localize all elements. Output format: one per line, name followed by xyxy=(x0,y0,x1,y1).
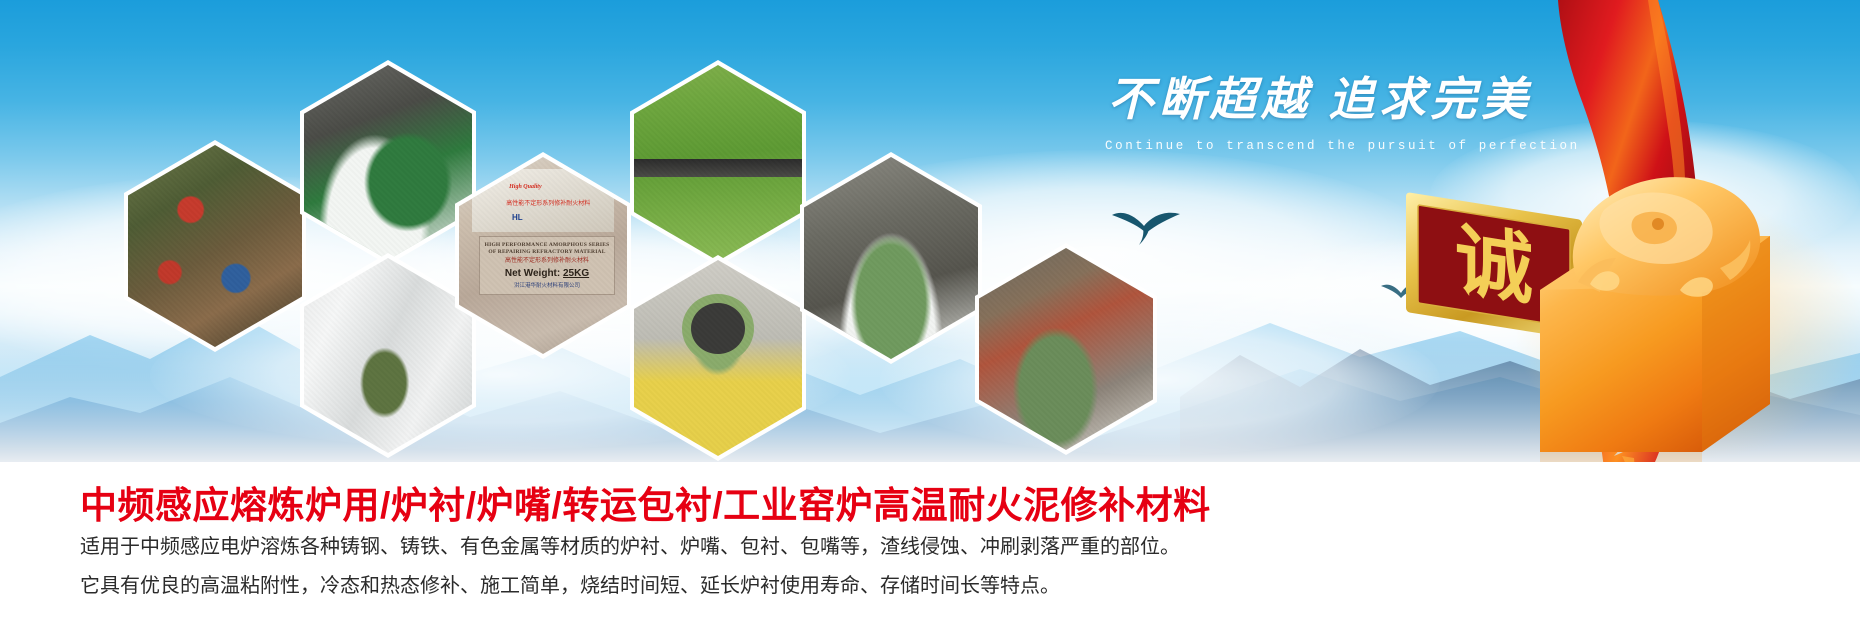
hexagon-photo-nozzle xyxy=(630,255,806,461)
promotional-banner: High Quality 高性能不定形系列修补耐火材料 HL HIGH PERF… xyxy=(0,0,1860,640)
description-line-2: 它具有优良的高温粘附性，冷态和热态修补、施工简单，烧结时间短、延长炉衬使用寿命、… xyxy=(80,569,1060,598)
hexagon-photo-furnace xyxy=(800,152,982,364)
description-line-1: 适用于中频感应电炉溶炼各种铸钢、铸铁、有色金属等材质的炉衬、炉嘴、包衬、包嘴等，… xyxy=(80,530,1180,559)
hexagon-photo-green-lining xyxy=(630,60,806,266)
page-title: 中频感应熔炼炉用/炉衬/炉嘴/转运包衬/工业窑炉高温耐火泥修补材料 xyxy=(80,475,1211,529)
plaque-character: 诚 xyxy=(1455,216,1533,315)
hexagon-photo-pour xyxy=(300,60,476,265)
hexagon-photo-workers xyxy=(124,140,306,352)
hexagon-photo-repair-site xyxy=(975,243,1157,455)
text-content-block: 中频感应熔炼炉用/炉衬/炉嘴/转运包衬/工业窑炉高温耐火泥修补材料 适用于中频感… xyxy=(0,462,1860,640)
hexagon-photo-buckets xyxy=(300,253,476,458)
hexagon-photo-product-bag: High Quality 高性能不定形系列修补耐火材料 HL HIGH PERF… xyxy=(455,152,631,359)
